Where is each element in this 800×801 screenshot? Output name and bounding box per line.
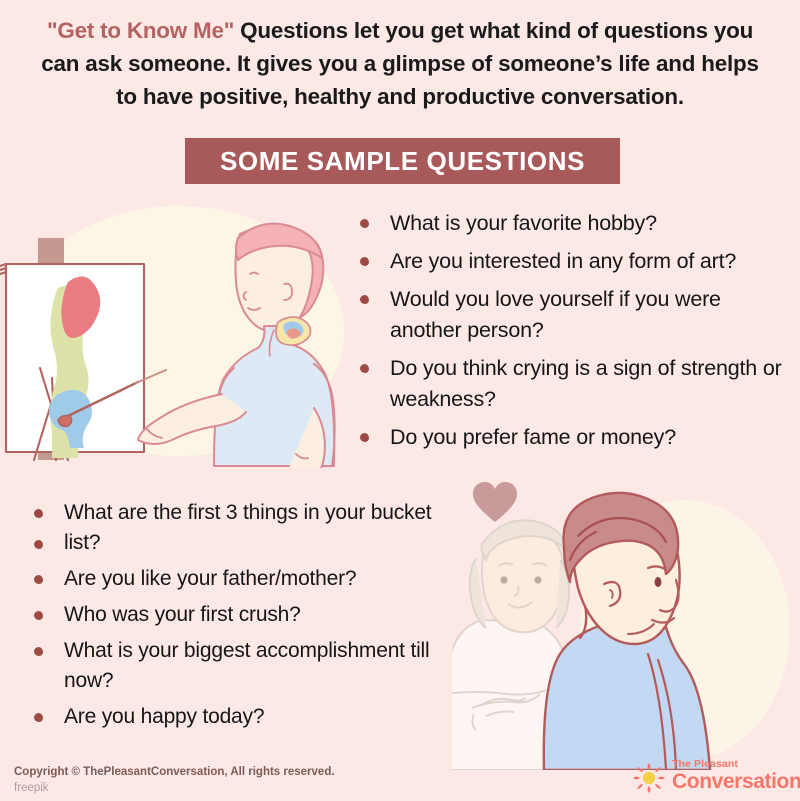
bullet-icon — [34, 509, 43, 518]
question-text: Are you interested in any form of art? — [390, 249, 736, 273]
question-item: Do you prefer fame or money? — [358, 422, 798, 453]
bullet-icon — [34, 611, 43, 620]
bullet-icon — [34, 575, 43, 584]
banner-title: SOME SAMPLE QUESTIONS — [220, 146, 585, 177]
couple-illustration — [452, 488, 800, 770]
question-text: Who was your first crush? — [64, 603, 301, 626]
question-item: Who was your first crush? — [32, 600, 462, 630]
question-text: What is your biggest accomplishment till… — [64, 639, 429, 692]
section-banner: SOME SAMPLE QUESTIONS — [185, 138, 620, 184]
woman-painting-illustration — [0, 198, 352, 468]
question-text: What is your favorite hobby? — [390, 211, 657, 235]
bullet-icon — [360, 295, 369, 304]
sample-questions-list-top: What is your favorite hobby? Are you int… — [358, 208, 798, 460]
bullet-icon — [360, 257, 369, 266]
question-text: What are the first 3 things in your buck… — [64, 501, 431, 554]
question-text: Do you prefer fame or money? — [390, 425, 676, 449]
bullet-icon — [34, 540, 43, 549]
intro-highlight: "Get to Know Me" — [47, 18, 234, 43]
question-text: Are you happy today? — [64, 705, 264, 728]
question-item: What is your favorite hobby? — [358, 208, 798, 239]
copyright-text: Copyright © ThePleasantConversation, All… — [14, 764, 335, 780]
question-item: Are you happy today? — [32, 702, 462, 732]
logo-line-2: Conversation — [672, 770, 792, 793]
infographic-poster: "Get to Know Me" Questions let you get w… — [0, 0, 800, 801]
bullet-icon — [34, 713, 43, 722]
question-item: Would you love yourself if you were anot… — [358, 284, 798, 346]
brand-logo[interactable]: The Pleasant Conversation — [632, 758, 792, 796]
attribution-text: freepik — [14, 780, 49, 796]
question-item: What is your biggest accomplishment till… — [32, 636, 462, 696]
bullet-icon — [360, 433, 369, 442]
question-text: Are you like your father/mother? — [64, 567, 356, 590]
bullet-icon — [360, 219, 369, 228]
sun-flower-logo-icon — [632, 762, 666, 794]
logo-wordmark: The Pleasant Conversation — [672, 758, 792, 793]
intro-paragraph: "Get to Know Me" Questions let you get w… — [28, 14, 772, 113]
sample-questions-list-bottom: What are the first 3 things in your buck… — [32, 498, 462, 738]
question-text: Do you think crying is a sign of strengt… — [390, 356, 782, 411]
question-text: Would you love yourself if you were anot… — [390, 287, 721, 342]
question-item: Do you think crying is a sign of strengt… — [358, 353, 798, 415]
logo-line-1: The Pleasant — [672, 758, 792, 770]
bullet-icon — [34, 647, 43, 656]
question-item: Are you interested in any form of art? — [358, 246, 798, 277]
bullet-icon — [360, 364, 369, 373]
question-item: What are the first 3 things in your buck… — [32, 498, 462, 558]
question-item: Are you like your father/mother? — [32, 564, 462, 594]
